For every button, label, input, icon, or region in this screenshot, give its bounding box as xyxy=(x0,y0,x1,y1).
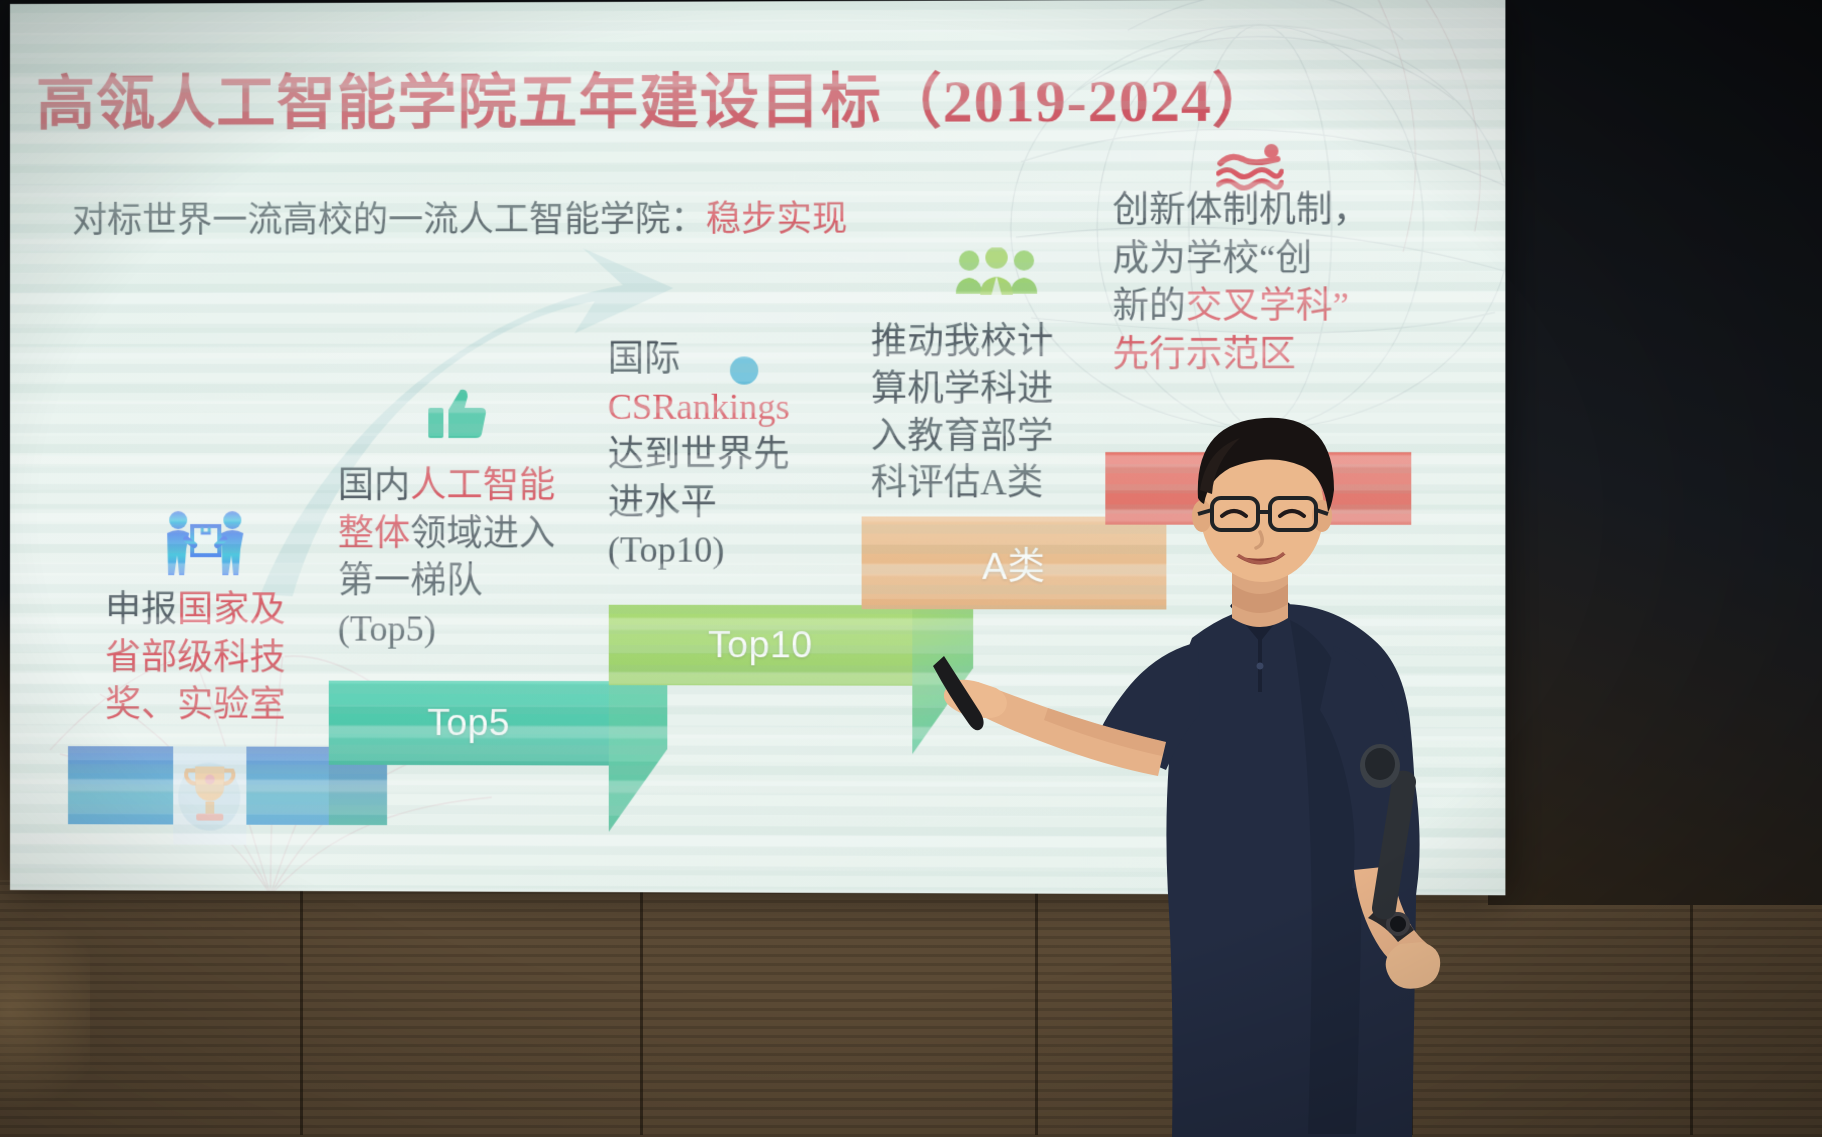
block-1-line-1: 申报国家及 xyxy=(105,586,356,634)
block-2-line-2: 整体领域进入 xyxy=(338,510,602,558)
wall-panel-seam xyxy=(300,885,303,1135)
wood-wall xyxy=(0,880,1822,1137)
step-top5-riser xyxy=(609,681,668,832)
block-2-line-1: 国内人工智能 xyxy=(338,462,602,510)
block-5-line-2: 成为学校“创 xyxy=(1112,234,1418,282)
block-2-line-4: (Top5) xyxy=(338,605,602,653)
block-1-text: 申报国家及 省部级科技 奖、实验室 xyxy=(105,586,356,729)
block-3-line-5: (Top10) xyxy=(608,526,841,574)
block-4-line-1: 推动我校计 xyxy=(871,318,1084,365)
right-wall xyxy=(1488,0,1822,905)
slide-subtitle: 对标世界一流高校的一流人工智能学院：稳步实现 xyxy=(72,190,847,243)
two-people-carrying-box-icon xyxy=(162,509,248,579)
block-3-line-2: CSRankings xyxy=(608,383,841,431)
block-3-text: 国际 CSRankings 达到世界先 进水平 (Top10) xyxy=(608,335,841,574)
slide-title: 高瓴人工智能学院五年建设目标（2019-2024） xyxy=(36,52,1330,141)
step-top10: Top10 xyxy=(609,605,913,686)
block-5-line-1: 创新体制机制， xyxy=(1112,186,1418,235)
presenter xyxy=(930,370,1530,1137)
subtitle-highlight: 稳步实现 xyxy=(706,199,848,238)
block-5-text: 创新体制机制， 成为学校“创 新的交叉学科” 先行示范区 xyxy=(1112,186,1418,378)
block-5-line-3: 新的交叉学科” xyxy=(1112,282,1418,330)
trophy-icon xyxy=(173,746,246,844)
wall-panel-seam xyxy=(640,885,643,1135)
block-3-line-1: 国际 xyxy=(608,335,841,383)
wall-panel-seam xyxy=(1690,885,1693,1135)
step-top5: Top5 xyxy=(329,681,609,766)
subtitle-main: 对标世界一流高校的一流人工智能学院： xyxy=(72,200,706,240)
screenshot-stage: 高瓴人工智能学院五年建设目标（2019-2024） 对标世界一流高校的一流人工智… xyxy=(0,0,1822,1137)
step-top10-label: Top10 xyxy=(609,605,913,686)
block-3-line-4: 进水平 xyxy=(608,479,841,527)
block-2-text: 国内人工智能 整体领域进入 第一梯队 (Top5) xyxy=(338,462,602,653)
ambient-light xyxy=(0,930,90,1130)
step-top5-label: Top5 xyxy=(329,681,609,766)
thumbs-up-icon xyxy=(426,386,488,444)
block-1-line-2: 省部级科技 xyxy=(105,634,356,682)
block-2-line-3: 第一梯队 xyxy=(338,557,602,605)
trophy-photo-frame xyxy=(173,746,246,844)
three-people-icon xyxy=(955,247,1038,295)
block-3-line-3: 达到世界先 xyxy=(608,431,841,479)
block-1-line-3: 奖、实验室 xyxy=(105,681,356,729)
